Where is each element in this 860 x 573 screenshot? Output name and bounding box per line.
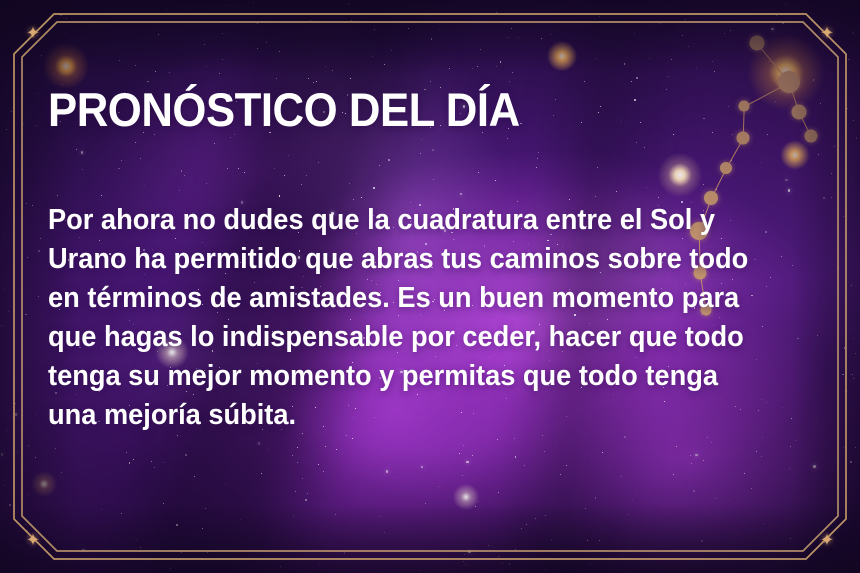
horoscope-poster: ✦ ✦ ✦ ✦ PRONÓSTICO DEL DÍA Por ahora no …: [0, 0, 860, 573]
forecast-line: en términos de amistades. Es un buen mom…: [48, 279, 780, 318]
forecast-text: Por ahora no dudes que la cuadratura ent…: [48, 201, 780, 435]
content-area: PRONÓSTICO DEL DÍA Por ahora no dudes qu…: [48, 86, 814, 133]
page-title: PRONÓSTICO DEL DÍA: [48, 86, 760, 133]
forecast-line: una mejoría súbita.: [48, 396, 780, 435]
forecast-line: Por ahora no dudes que la cuadratura ent…: [48, 201, 780, 240]
forecast-line: tenga su mejor momento y permitas que to…: [48, 357, 780, 396]
forecast-line: que hagas lo indispensable por ceder, ha…: [48, 318, 780, 357]
forecast-line: Urano ha permitido que abras tus caminos…: [48, 240, 780, 279]
